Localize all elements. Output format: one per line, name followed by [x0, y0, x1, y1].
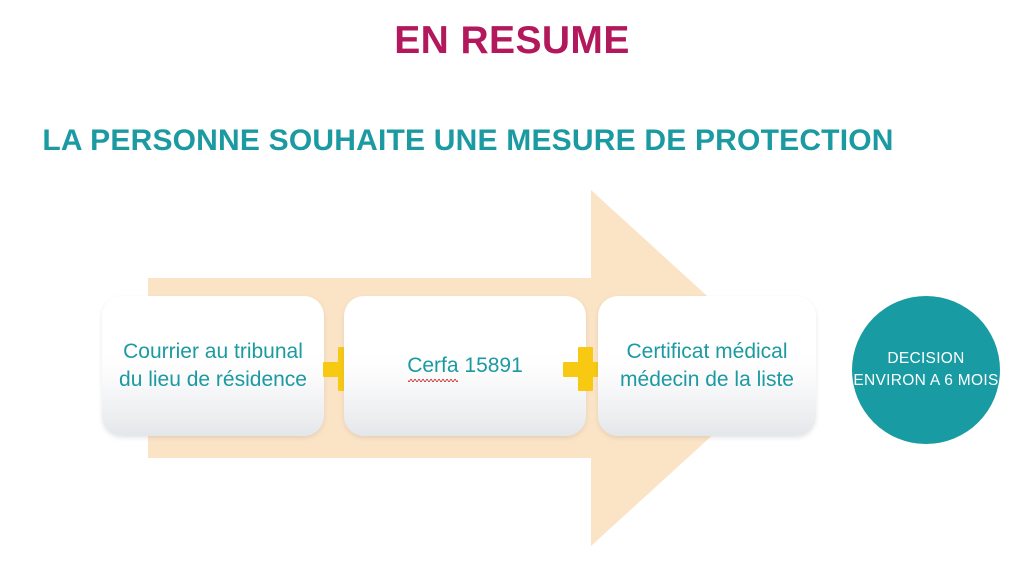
- outcome-circle-decision[interactable]: DECISION ENVIRON A 6 MOIS: [852, 296, 1000, 444]
- step-box-courrier-tribunal[interactable]: Courrier au tribunal du lieu de résidenc…: [102, 296, 324, 436]
- outcome-circle-label: DECISION ENVIRON A 6 MOIS: [852, 348, 1000, 393]
- step-box-1-label: Courrier au tribunal du lieu de résidenc…: [110, 338, 316, 395]
- page-subtitle: LA PERSONNE SOUHAITE UNE MESURE DE PROTE…: [18, 124, 918, 157]
- step-box-certificat-medical[interactable]: Certificat médical médecin de la liste: [598, 296, 816, 436]
- right-arrow-banner-icon: [0, 0, 1024, 562]
- step-box-3-label: Certificat médical médecin de la liste: [606, 338, 808, 395]
- step-box-2-number: 15891: [459, 354, 523, 377]
- step-box-cerfa[interactable]: Cerfa 15891: [344, 296, 586, 436]
- slide-canvas: EN RESUME LA PERSONNE SOUHAITE UNE MESUR…: [0, 0, 1024, 562]
- misspelled-word-cerfa: Cerfa: [407, 352, 458, 380]
- page-title: EN RESUME: [0, 20, 1024, 63]
- step-box-2-label: Cerfa 15891: [352, 352, 578, 380]
